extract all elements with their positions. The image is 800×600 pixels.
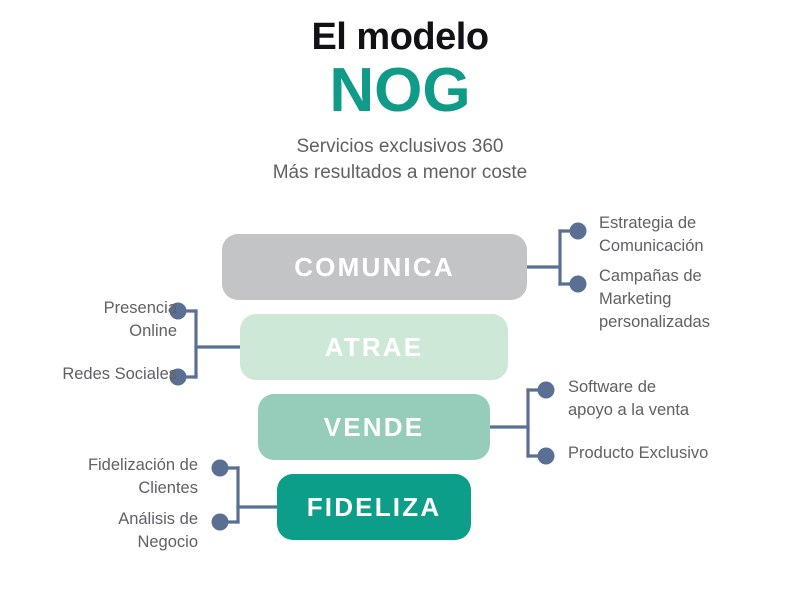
stage-bar-fideliza[interactable]: FIDELIZA (277, 474, 471, 540)
leaf-label-atrae-1: Presencia Online (0, 297, 177, 343)
connector-dot (570, 223, 587, 240)
stage-label-vende: VENDE (324, 412, 425, 443)
connector-vende (490, 382, 555, 465)
connector-fideliza (212, 460, 278, 531)
connector-comunica (527, 223, 587, 293)
stage-label-fideliza: FIDELIZA (307, 492, 442, 523)
stage-bar-vende[interactable]: VENDE (258, 394, 490, 460)
leaf-label-comunica-1: Estrategia de Comunicación (599, 212, 799, 258)
connector-dot (538, 382, 555, 399)
leaf-label-atrae-2: Redes Sociales (0, 363, 177, 386)
leaf-label-vende-1: Software de apoyo a la venta (568, 376, 788, 422)
leaf-label-fideliza-2: Análisis de Negocio (0, 508, 198, 554)
connector-dot (212, 514, 229, 531)
connector-dot (212, 460, 229, 477)
stage-label-atrae: ATRAE (325, 332, 424, 363)
leaf-label-comunica-2: Campañas de Marketing personalizadas (599, 265, 799, 334)
connector-dot (570, 276, 587, 293)
infographic-canvas: El modelo NOG Servicios exclusivos 360 M… (0, 0, 800, 600)
connector-dot (538, 448, 555, 465)
model-diagram: COMUNICA ATRAE VENDE FIDELIZA Estrategia… (0, 0, 800, 600)
stage-label-comunica: COMUNICA (294, 252, 455, 283)
leaf-label-fideliza-1: Fidelización de Clientes (0, 454, 198, 500)
leaf-label-vende-2: Producto Exclusivo (568, 442, 788, 465)
connector-atrae (170, 303, 241, 386)
stage-bar-atrae[interactable]: ATRAE (240, 314, 508, 380)
stage-bar-comunica[interactable]: COMUNICA (222, 234, 527, 300)
